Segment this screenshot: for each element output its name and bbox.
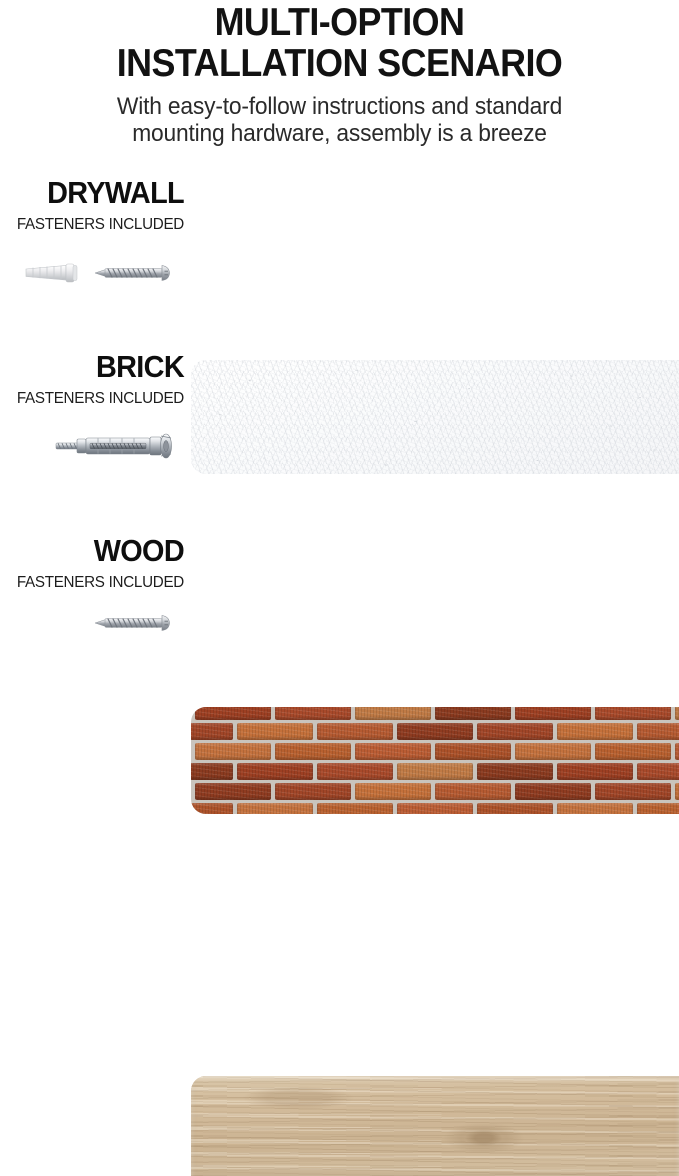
- drywall-hardware-group: [0, 256, 184, 296]
- brick-unit: [637, 763, 679, 780]
- brick-unit: [191, 803, 233, 814]
- brick-unit: [557, 803, 633, 814]
- brick-hardware-icons: [0, 426, 184, 466]
- brick-unit: [195, 783, 271, 800]
- brick-unit: [195, 707, 271, 720]
- drywall-screw-icon: [95, 266, 170, 281]
- sleeve-expansion-anchor-icon: [56, 434, 172, 458]
- wood-screw-icon: [95, 616, 170, 631]
- brick-unit: [191, 763, 233, 780]
- brick-unit: [595, 783, 671, 800]
- brick-unit: [355, 783, 431, 800]
- brick-unit: [355, 707, 431, 720]
- brick-hardware-group: [0, 426, 184, 466]
- page-subtitle: With easy-to-follow instructions and sta…: [17, 84, 662, 147]
- brick-course: [191, 803, 679, 814]
- brick-unit: [675, 783, 679, 800]
- plastic-wall-anchor-icon: [26, 264, 77, 282]
- brick-unit: [515, 707, 591, 720]
- brick-course: [191, 723, 679, 743]
- install-option-drywall: DRYWALL FASTENERS INCLUDED: [0, 176, 679, 306]
- brick-texture-swatch: [191, 707, 679, 814]
- brick-course: [191, 707, 679, 723]
- brick-unit: [637, 803, 679, 814]
- brick-course: [191, 763, 679, 783]
- header: MULTI-OPTION INSTALLATION SCENARIO With …: [0, 0, 679, 147]
- brick-unit: [435, 743, 511, 760]
- brick-unit: [637, 723, 679, 740]
- fasteners-included-wood: FASTENERS INCLUDED: [9, 567, 184, 592]
- wood-hardware-group: [0, 606, 184, 646]
- brick-unit: [237, 723, 313, 740]
- brick-unit: [275, 743, 351, 760]
- install-option-brick: BRICK FASTENERS INCLUDED: [0, 350, 679, 475]
- brick-unit: [435, 783, 511, 800]
- install-option-wood: WOOD FASTENERS INCLUDED: [0, 534, 679, 642]
- brick-unit: [515, 783, 591, 800]
- brick-unit: [477, 763, 553, 780]
- brick-unit: [195, 743, 271, 760]
- brick-unit: [317, 723, 393, 740]
- brick-unit: [397, 803, 473, 814]
- brick-unit: [355, 743, 431, 760]
- wood-plank-surface: [191, 1076, 679, 1176]
- brick-unit: [675, 743, 679, 760]
- brick-unit: [275, 707, 351, 720]
- drywall-label-group: DRYWALL FASTENERS INCLUDED: [0, 176, 184, 234]
- brick-unit: [397, 763, 473, 780]
- brick-unit: [435, 707, 511, 720]
- wood-hardware-icons: [0, 606, 184, 640]
- brick-unit: [317, 803, 393, 814]
- brick-label-group: BRICK FASTENERS INCLUDED: [0, 350, 184, 408]
- fasteners-included-brick: FASTENERS INCLUDED: [9, 383, 184, 408]
- brick-unit: [397, 723, 473, 740]
- brick-wall-surface: [191, 707, 679, 814]
- drywall-hardware-icons: [0, 256, 184, 290]
- brick-unit: [477, 803, 553, 814]
- brick-unit: [557, 763, 633, 780]
- wood-texture-swatch: [191, 1076, 679, 1176]
- page-title: MULTI-OPTION INSTALLATION SCENARIO: [27, 0, 652, 84]
- material-name-wood: WOOD: [13, 534, 184, 567]
- brick-unit: [275, 783, 351, 800]
- brick-unit: [477, 723, 553, 740]
- wood-label-group: WOOD FASTENERS INCLUDED: [0, 534, 184, 592]
- brick-unit: [595, 743, 671, 760]
- brick-course: [191, 783, 679, 803]
- brick-unit: [237, 803, 313, 814]
- brick-unit: [557, 723, 633, 740]
- fasteners-included-drywall: FASTENERS INCLUDED: [9, 209, 184, 234]
- brick-unit: [675, 707, 679, 720]
- material-name-brick: BRICK: [13, 350, 184, 383]
- brick-unit: [515, 743, 591, 760]
- brick-course: [191, 743, 679, 763]
- brick-unit: [317, 763, 393, 780]
- brick-unit: [191, 723, 233, 740]
- brick-unit: [237, 763, 313, 780]
- brick-unit: [595, 707, 671, 720]
- material-name-drywall: DRYWALL: [13, 176, 184, 209]
